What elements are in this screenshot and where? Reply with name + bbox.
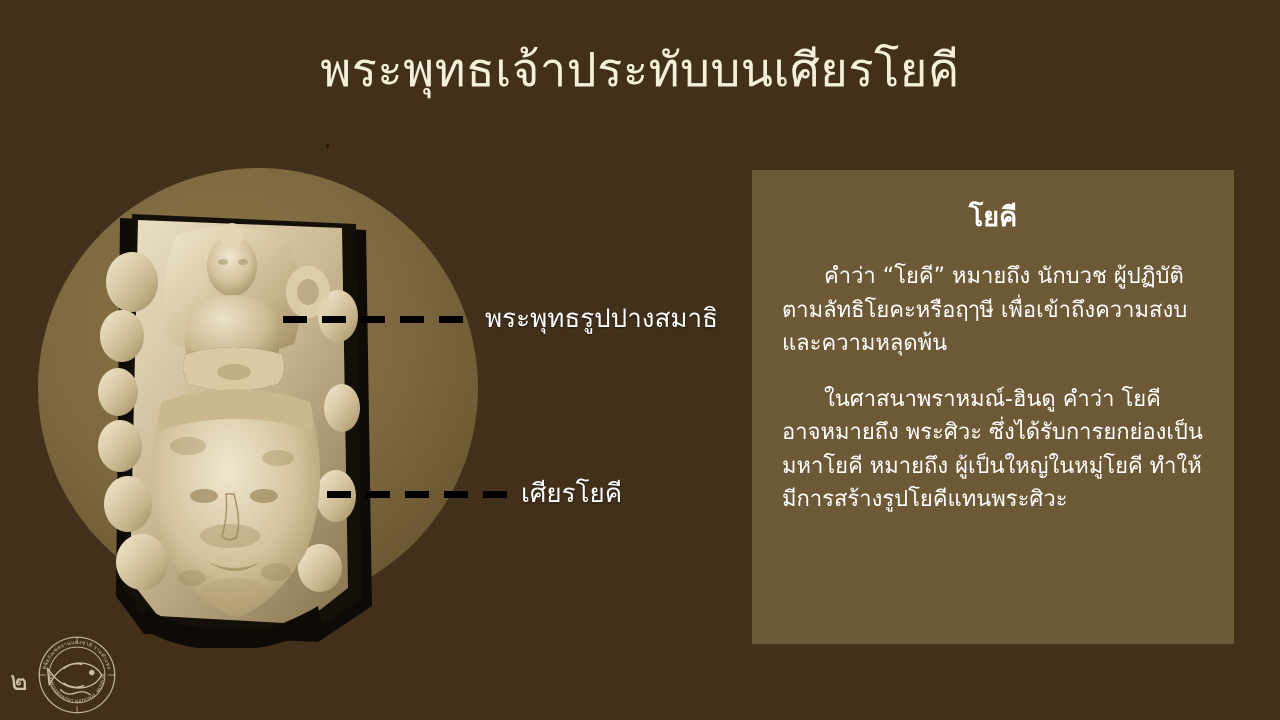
callout-yogi-head: เศียรโยคี	[327, 481, 622, 507]
slide-root: พระพุทธเจ้าประทับบนเศียรโยคี	[0, 0, 1280, 720]
info-panel: โยคี คำว่า “โยคี” หมายถึง นักบวช ผู้ปฏิบ…	[752, 170, 1234, 644]
leader-line-icon	[327, 491, 507, 498]
svg-text:พิพิธภัณฑสถานแห่งชาติ รามคำแหง: พิพิธภัณฑสถานแห่งชาติ รามคำแหง	[41, 640, 111, 671]
museum-seal-icon: พิพิธภัณฑสถานแห่งชาติ รามคำแหง RAMKHAMHA…	[36, 634, 118, 716]
page-title: พระพุทธเจ้าประทับบนเศียรโยคี	[0, 44, 1280, 98]
callout-label-buddha: พระพุทธรูปปางสมาธิ	[485, 306, 718, 332]
page-number: ๒	[10, 668, 28, 695]
callout-label-yogi-head: เศียรโยคี	[521, 481, 622, 507]
info-panel-heading: โยคี	[782, 202, 1204, 234]
artifact-figure	[38, 168, 488, 658]
seal-text-top: พิพิธภัณฑสถานแห่งชาติ รามคำแหง	[41, 640, 111, 671]
info-panel-paragraph: คำว่า “โยคี” หมายถึง นักบวช ผู้ปฏิบัติตา…	[782, 260, 1204, 360]
image-speck-artifact	[326, 144, 329, 148]
artifact-photo	[80, 196, 392, 648]
callout-buddha: พระพุทธรูปปางสมาธิ	[283, 306, 718, 332]
leader-line-icon	[283, 316, 471, 323]
info-panel-paragraph: ในศาสนาพราหมณ์-ฮินดู คำว่า โยคี อาจหมายถ…	[782, 383, 1204, 517]
